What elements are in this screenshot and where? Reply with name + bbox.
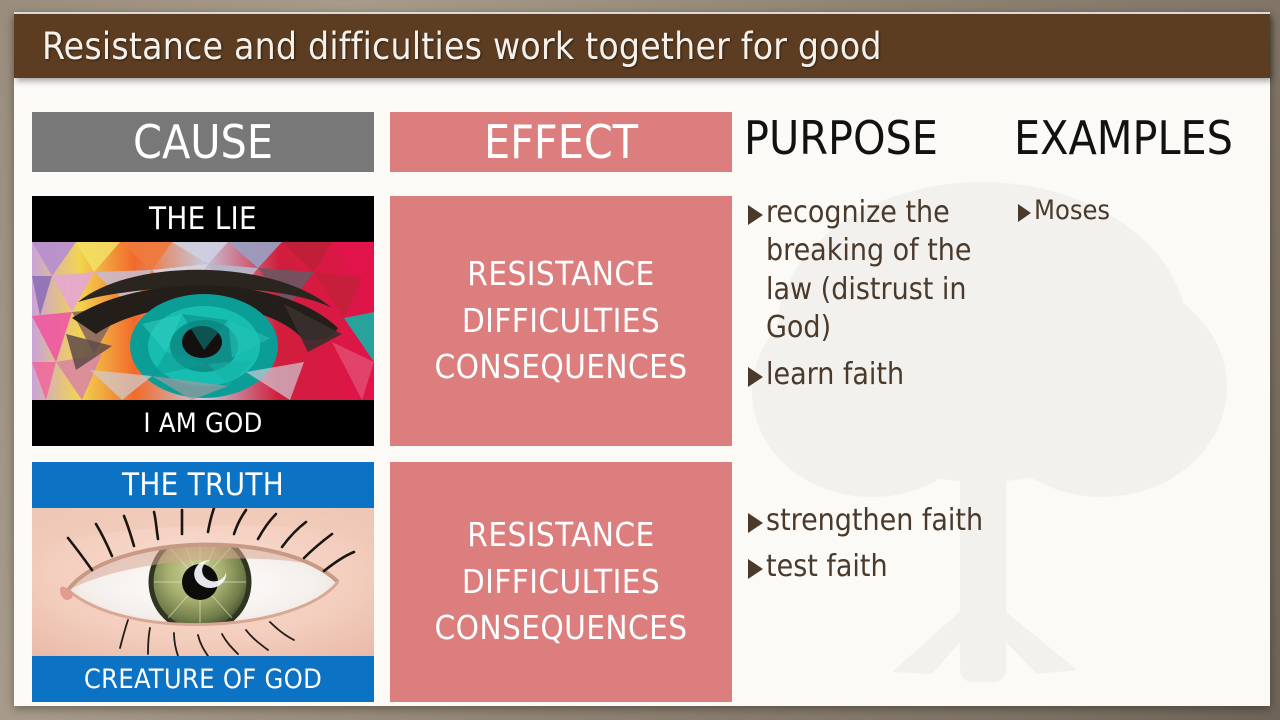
effect-row2-line2: DIFFICULTIES xyxy=(462,559,660,606)
cause-lie-top-text: THE LIE xyxy=(149,204,257,235)
purpose-list-row1: recognize the breaking of the law (distr… xyxy=(748,194,1026,402)
examples-list-row1: Moses xyxy=(1018,194,1268,237)
page-title: Resistance and difficulties work togethe… xyxy=(14,28,882,65)
triangle-bullet-icon xyxy=(748,513,763,533)
column-header-cause: CAUSE xyxy=(32,112,374,172)
triangle-bullet-icon xyxy=(748,367,763,387)
examples-row1-item1: Moses xyxy=(1034,194,1110,229)
column-header-cause-label: CAUSE xyxy=(133,119,273,165)
list-item: Moses xyxy=(1018,194,1268,229)
purpose-row1-item1: recognize the breaking of the law (distr… xyxy=(766,194,1026,348)
purpose-row2-item2: test faith xyxy=(766,548,888,586)
effect-row1-line2: DIFFICULTIES xyxy=(462,298,660,345)
slide-title-banner: Resistance and difficulties work togethe… xyxy=(14,14,1270,78)
effect-row1-line3: CONSEQUENCES xyxy=(434,344,687,391)
cause-cell-lie: THE LIE xyxy=(32,196,374,446)
cause-cell-truth: THE TRUTH xyxy=(32,462,374,702)
realistic-eye-image xyxy=(32,508,374,656)
column-header-purpose-label: PURPOSE xyxy=(744,115,938,161)
slide-card: CAUSE EFFECT PURPOSE EXAMPLES THE LIE xyxy=(14,12,1270,706)
effect-row2-line3: CONSEQUENCES xyxy=(434,605,687,652)
column-header-effect-label: EFFECT xyxy=(484,119,638,165)
effect-cell-row1: RESISTANCE DIFFICULTIES CONSEQUENCES xyxy=(390,196,732,446)
cause-truth-bottom-text: CREATURE OF GOD xyxy=(84,666,322,693)
column-header-examples: EXAMPLES xyxy=(1014,108,1270,168)
purpose-row2-item1: strengthen faith xyxy=(766,502,983,540)
cause-lie-bottom-label: I AM GOD xyxy=(32,400,374,446)
column-header-effect: EFFECT xyxy=(390,112,732,172)
cause-lie-bottom-text: I AM GOD xyxy=(143,410,262,437)
list-item: learn faith xyxy=(748,356,1026,394)
cause-lie-top-label: THE LIE xyxy=(32,196,374,242)
column-header-examples-label: EXAMPLES xyxy=(1014,115,1233,161)
effect-row2-line1: RESISTANCE xyxy=(467,512,654,559)
low-poly-eye-image xyxy=(32,242,374,400)
list-item: recognize the breaking of the law (distr… xyxy=(748,194,1026,348)
cause-truth-top-text: THE TRUTH xyxy=(122,470,284,501)
purpose-list-row2: strengthen faith test faith xyxy=(748,502,1026,595)
cause-truth-top-label: THE TRUTH xyxy=(32,462,374,508)
triangle-bullet-icon xyxy=(748,559,763,579)
purpose-row1-item2: learn faith xyxy=(766,356,904,394)
list-item: test faith xyxy=(748,548,1026,586)
column-header-purpose: PURPOSE xyxy=(744,108,1014,168)
list-item: strengthen faith xyxy=(748,502,1026,540)
effect-row1-line1: RESISTANCE xyxy=(467,251,654,298)
cause-truth-bottom-label: CREATURE OF GOD xyxy=(32,656,374,702)
content-grid: CAUSE EFFECT PURPOSE EXAMPLES THE LIE xyxy=(14,90,1270,706)
triangle-bullet-icon xyxy=(1018,204,1031,222)
effect-cell-row2: RESISTANCE DIFFICULTIES CONSEQUENCES xyxy=(390,462,732,702)
triangle-bullet-icon xyxy=(748,205,763,225)
